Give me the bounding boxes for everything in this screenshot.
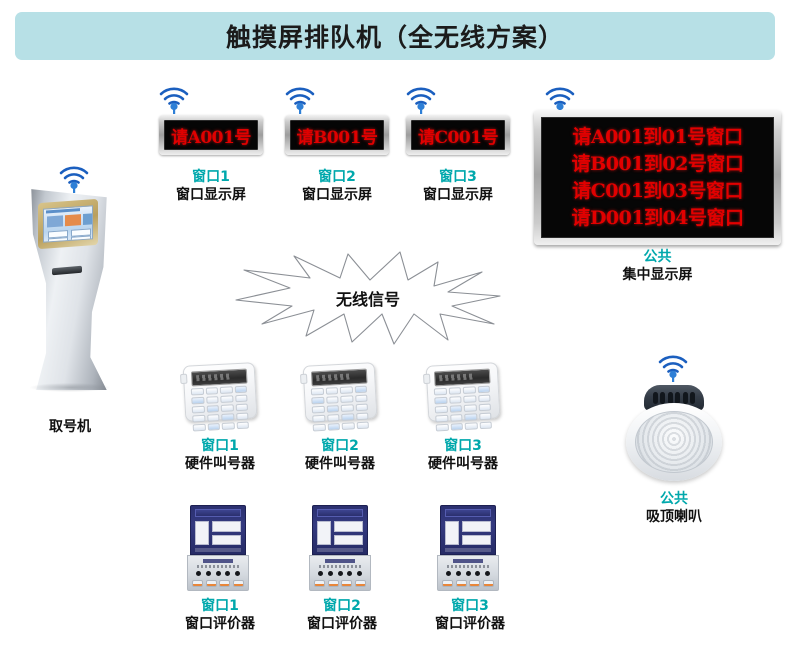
wifi-icon — [157, 84, 191, 114]
caller-antenna-nub — [423, 374, 431, 384]
caption-line2: 窗口显示屏 — [276, 186, 398, 204]
hardware-caller[interactable] — [303, 362, 378, 422]
caption-line2: 窗口评价器 — [281, 615, 403, 633]
caller-keys[interactable] — [434, 386, 492, 432]
speaker-cone — [635, 411, 713, 473]
caller-antenna-nub — [300, 374, 308, 384]
caption-line1: 窗口2 — [281, 597, 403, 615]
kiosk-caption: 取号机 — [12, 418, 128, 436]
caption-line2: 硬件叫号器 — [279, 455, 401, 473]
central-display-caption: 公共 集中显示屏 — [534, 248, 781, 284]
caller-antenna-nub — [180, 374, 188, 384]
led-screen: 请C001号 — [411, 120, 505, 150]
window-led-display[interactable]: 请C001号 — [406, 115, 510, 155]
evaluator-caption: 窗口2 窗口评价器 — [281, 597, 403, 633]
caption-line1: 窗口3 — [397, 168, 519, 186]
led-line: 请C001到03号窗口 — [572, 178, 743, 205]
led-screen: 请A001号 — [164, 120, 258, 150]
kiosk-touchscreen[interactable] — [43, 205, 93, 242]
caption-line2: 窗口评价器 — [409, 615, 531, 633]
led-line: 请A001到01号窗口 — [572, 124, 742, 151]
hardware-caller[interactable] — [426, 362, 501, 422]
caption-line2: 吸顶喇叭 — [613, 508, 735, 526]
caption-line1: 取号机 — [12, 418, 128, 436]
wifi-icon — [656, 352, 690, 382]
window-evaluator[interactable] — [309, 505, 371, 591]
wifi-icon — [404, 84, 438, 114]
led-text: 请A001号 — [171, 123, 251, 148]
caption-line2: 硬件叫号器 — [159, 455, 281, 473]
page-title: 触摸屏排队机（全无线方案） — [226, 18, 564, 54]
ceiling-speaker[interactable] — [626, 385, 722, 483]
led-text: 请B001号 — [297, 123, 378, 148]
caller-lcd — [311, 369, 368, 387]
caller-lcd — [434, 369, 491, 387]
caption-line2: 集中显示屏 — [534, 266, 781, 284]
window-led-display[interactable]: 请A001号 — [159, 115, 263, 155]
speaker-caption: 公共 吸顶喇叭 — [613, 490, 735, 526]
kiosk-screen-frame — [38, 199, 98, 249]
kiosk-shadow — [30, 383, 110, 392]
caption-line1: 公共 — [613, 490, 735, 508]
caller-keys[interactable] — [191, 386, 249, 432]
evaluator-display-panel — [440, 505, 496, 555]
evaluator-button-panel[interactable] — [437, 555, 499, 591]
led-screen: 请A001到01号窗口 请B001到02号窗口 请C001到03号窗口 请D00… — [541, 117, 774, 238]
caption-line1: 窗口3 — [409, 597, 531, 615]
caller-caption: 窗口2 硬件叫号器 — [279, 437, 401, 473]
led-screen: 请B001号 — [290, 120, 384, 150]
caller-caption: 窗口3 硬件叫号器 — [402, 437, 524, 473]
evaluator-button-panel[interactable] — [309, 555, 371, 591]
wifi-icon — [283, 84, 317, 114]
caption-line2: 窗口评价器 — [159, 615, 281, 633]
hardware-caller[interactable] — [183, 362, 258, 422]
window-display-caption: 窗口2 窗口显示屏 — [276, 168, 398, 204]
caller-lcd — [191, 369, 248, 387]
led-line: 请B001到02号窗口 — [572, 151, 744, 178]
window-display-caption: 窗口1 窗口显示屏 — [150, 168, 272, 204]
window-evaluator[interactable] — [437, 505, 499, 591]
caption-line1: 窗口1 — [150, 168, 272, 186]
caption-line2: 窗口显示屏 — [150, 186, 272, 204]
caller-caption: 窗口1 硬件叫号器 — [159, 437, 281, 473]
caption-line2: 窗口显示屏 — [397, 186, 519, 204]
evaluator-caption: 窗口1 窗口评价器 — [159, 597, 281, 633]
window-display-caption: 窗口3 窗口显示屏 — [397, 168, 519, 204]
window-led-display[interactable]: 请B001号 — [285, 115, 389, 155]
evaluator-caption: 窗口3 窗口评价器 — [409, 597, 531, 633]
burst-label: 无线信号 — [232, 248, 504, 348]
ticket-kiosk[interactable] — [22, 185, 118, 400]
caption-line2: 硬件叫号器 — [402, 455, 524, 473]
wireless-signal-burst: 无线信号 — [232, 248, 504, 348]
evaluator-display-panel — [190, 505, 246, 555]
caption-line1: 窗口1 — [159, 437, 281, 455]
evaluator-button-panel[interactable] — [187, 555, 249, 591]
caller-keys[interactable] — [311, 386, 369, 432]
caption-line1: 窗口1 — [159, 597, 281, 615]
caption-line1: 窗口2 — [279, 437, 401, 455]
caption-line1: 公共 — [534, 248, 781, 266]
led-line: 请D001到04号窗口 — [571, 205, 743, 232]
led-text: 请C001号 — [418, 123, 498, 148]
caption-line1: 窗口3 — [402, 437, 524, 455]
evaluator-display-panel — [312, 505, 368, 555]
central-led-display[interactable]: 请A001到01号窗口 请B001到02号窗口 请C001到03号窗口 请D00… — [534, 110, 781, 245]
page-title-banner: 触摸屏排队机（全无线方案） — [15, 12, 775, 60]
window-evaluator[interactable] — [187, 505, 249, 591]
caption-line1: 窗口2 — [276, 168, 398, 186]
